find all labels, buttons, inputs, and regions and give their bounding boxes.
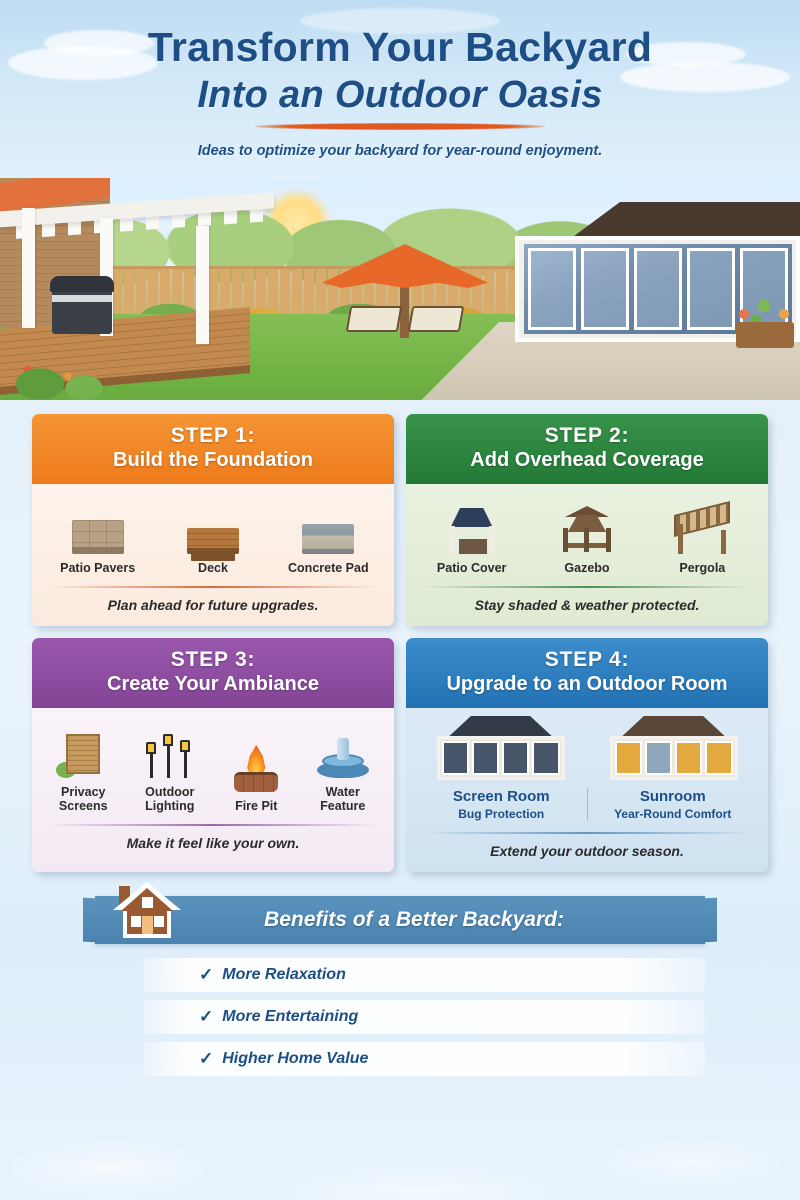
step-card-4-room-labels: Screen Room Bug Protection Sunroom Year-… (416, 788, 758, 821)
step-card-1-item-row: Patio Pavers Deck Concrete Pad (42, 496, 384, 575)
step-item-concrete-pad[interactable]: Concrete Pad (273, 496, 384, 575)
pergola-icon (674, 496, 730, 554)
sunroom-icon (600, 724, 748, 782)
step-card-3-step-label: STEP 3: (40, 648, 386, 672)
step-card-1-step-label: STEP 1: (40, 424, 386, 448)
step-card-1-title: Build the Foundation (40, 449, 386, 472)
outdoor-lighting-icon (144, 720, 196, 778)
room-subtitle: Year-Round Comfort (594, 807, 753, 821)
step-item-label: Patio Pavers (60, 561, 135, 575)
step-item-label: Patio Cover (437, 561, 506, 575)
benefit-item[interactable]: ✓ More Relaxation (143, 958, 705, 992)
glass-pane (581, 248, 629, 330)
garden-plants-decoration (6, 340, 116, 400)
step-card-2-header: STEP 2: Add Overhead Coverage (406, 414, 768, 484)
room-label-screen-room[interactable]: Screen Room Bug Protection (416, 788, 587, 821)
room-label-sunroom[interactable]: Sunroom Year-Round Comfort (587, 788, 759, 821)
room-name: Sunroom (594, 788, 753, 805)
step-item-label: Privacy Screens (42, 785, 125, 813)
room-name: Screen Room (422, 788, 581, 805)
room-illustration-screen-room (416, 724, 585, 782)
hero-backyard-illustration (0, 178, 800, 400)
deck-icon (187, 496, 239, 554)
grill-lid (50, 276, 114, 292)
pergola-post (196, 226, 209, 344)
lounge-chair-decoration (346, 306, 403, 332)
step-card-2-footer: Stay shaded & weather protected. (416, 588, 758, 626)
step-card-4-footer: Extend your outdoor season. (416, 834, 758, 872)
sunroom-building-decoration (500, 202, 800, 352)
benefit-item[interactable]: ✓ Higher Home Value (143, 1042, 705, 1076)
step-card-1-body: Patio Pavers Deck Concrete Pad Plan ahea… (32, 484, 394, 626)
check-icon: ✓ (199, 1007, 213, 1027)
benefit-label: More Relaxation (222, 966, 346, 984)
page-title-line-2: Into an Outdoor Oasis (0, 72, 800, 119)
benefits-title: Benefits of a Better Backyard: (236, 908, 564, 932)
step-item-pergola[interactable]: Pergola (647, 496, 758, 575)
room-subtitle: Bug Protection (422, 807, 581, 821)
step-item-outdoor-lighting[interactable]: Outdoor Lighting (129, 720, 212, 813)
step-item-label: Pergola (679, 561, 725, 575)
glass-pane (634, 248, 682, 330)
step-card-3[interactable]: STEP 3: Create Your Ambiance Privacy Scr… (32, 638, 394, 872)
screen-room-icon (427, 724, 575, 782)
step-card-4-title: Upgrade to an Outdoor Room (414, 673, 760, 696)
benefits-section: Benefits of a Better Backyard: ✓ More Re… (0, 896, 800, 1076)
step-item-label: Fire Pit (235, 799, 277, 813)
pavers-icon (72, 496, 124, 554)
step-item-patio-cover[interactable]: Patio Cover (416, 496, 527, 575)
page-subtitle: Ideas to optimize your backyard for year… (0, 143, 800, 159)
benefits-banner: Benefits of a Better Backyard: (95, 896, 705, 944)
planter-box-decoration (736, 322, 794, 348)
step-card-1[interactable]: STEP 1: Build the Foundation Patio Paver… (32, 414, 394, 626)
step-item-privacy-screens[interactable]: Privacy Screens (42, 720, 125, 813)
step-item-label: Water Feature (302, 785, 385, 813)
step-card-3-title: Create Your Ambiance (40, 673, 386, 696)
step-card-1-footer: Plan ahead for future upgrades. (42, 588, 384, 626)
benefit-item[interactable]: ✓ More Entertaining (143, 1000, 705, 1034)
room-illustration-sunroom (589, 724, 758, 782)
step-item-fire-pit[interactable]: Fire Pit (215, 734, 298, 813)
step-card-3-body: Privacy Screens Outdoor Lighting (32, 708, 394, 872)
step-item-label: Outdoor Lighting (129, 785, 212, 813)
step-card-3-footer: Make it feel like your own. (42, 826, 384, 864)
step-card-1-header: STEP 1: Build the Foundation (32, 414, 394, 484)
step-card-2-step-label: STEP 2: (414, 424, 760, 448)
benefit-label: More Entertaining (222, 1008, 358, 1026)
step-card-2[interactable]: STEP 2: Add Overhead Coverage Patio Cove… (406, 414, 768, 626)
check-icon: ✓ (199, 965, 213, 985)
pergola-post (22, 208, 35, 328)
check-icon: ✓ (199, 1049, 213, 1069)
steps-grid: STEP 1: Build the Foundation Patio Paver… (0, 400, 800, 872)
page-header: Transform Your Backyard Into an Outdoor … (0, 0, 800, 178)
page-title-line-1: Transform Your Backyard (0, 22, 800, 72)
step-card-4-body: Screen Room Bug Protection Sunroom Year-… (406, 708, 768, 872)
step-card-4[interactable]: STEP 4: Upgrade to an Outdoor Room (406, 638, 768, 872)
step-card-3-item-row: Privacy Screens Outdoor Lighting (42, 720, 384, 813)
title-underline-flourish (255, 123, 545, 130)
water-feature-icon (317, 720, 369, 778)
step-item-label: Concrete Pad (288, 561, 369, 575)
patio-cover-icon (443, 496, 501, 554)
house-icon (109, 880, 185, 944)
glass-pane (528, 248, 576, 330)
step-item-water-feature[interactable]: Water Feature (302, 720, 385, 813)
step-item-gazebo[interactable]: Gazebo (531, 496, 642, 575)
privacy-screen-icon (58, 720, 108, 778)
lounge-chair-decoration (408, 306, 465, 332)
step-card-4-step-label: STEP 4: (414, 648, 760, 672)
glass-pane (687, 248, 735, 330)
step-item-label: Deck (198, 561, 228, 575)
step-item-deck[interactable]: Deck (157, 496, 268, 575)
step-item-patio-pavers[interactable]: Patio Pavers (42, 496, 153, 575)
step-card-4-header: STEP 4: Upgrade to an Outdoor Room (406, 638, 768, 708)
step-card-3-header: STEP 3: Create Your Ambiance (32, 638, 394, 708)
benefits-list: ✓ More Relaxation ✓ More Entertaining ✓ … (95, 958, 705, 1076)
concrete-pad-icon (302, 496, 354, 554)
fire-pit-icon (231, 734, 281, 792)
step-card-2-item-row: Patio Cover Gazebo Pergola (416, 496, 758, 575)
gazebo-icon (557, 496, 617, 554)
benefit-label: Higher Home Value (222, 1050, 368, 1068)
grill-control-panel (52, 295, 112, 302)
step-card-4-item-row (416, 720, 758, 782)
step-item-label: Gazebo (564, 561, 609, 575)
step-card-2-body: Patio Cover Gazebo Pergola Stay shaded &… (406, 484, 768, 626)
step-card-2-title: Add Overhead Coverage (414, 449, 760, 472)
